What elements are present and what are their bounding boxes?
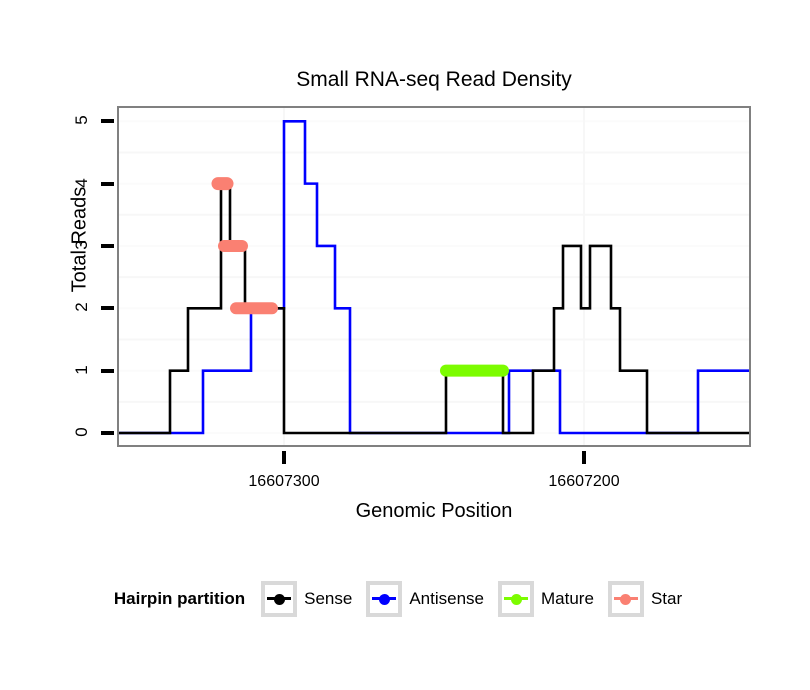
x-tick-label-16607200: 16607200 [514,473,654,491]
x-axis-title: Genomic Position [117,500,751,523]
legend-entry-antisense[interactable]: Antisense [366,581,498,617]
legend-key-dot-icon [620,594,631,605]
legend-key-mature-icon [498,581,534,617]
legend-key-dot-icon [511,594,522,605]
plot-panel [117,106,751,447]
x-tick-mark-16607300 [282,451,286,464]
y-tick-mark-3 [101,244,114,248]
x-tick-label-16607300: 16607300 [214,473,354,491]
legend-entry-sense[interactable]: Sense [261,581,366,617]
chart-figure: Small RNA-seq Read Density Total Reads 0… [0,0,810,690]
legend-entry-star[interactable]: Star [608,581,696,617]
y-tick-mark-0 [101,431,114,435]
legend-key-sense-icon [261,581,297,617]
y-tick-mark-2 [101,306,114,310]
y-tick-mark-5 [101,119,114,123]
y-tick-label-2: 2 [72,295,92,319]
legend-key-dot-icon [379,594,390,605]
legend-label-antisense: Antisense [409,589,484,609]
legend-label-mature: Mature [541,589,594,609]
legend-title: Hairpin partition [114,589,245,609]
chart-title: Small RNA-seq Read Density [117,68,751,92]
x-tick-mark-16607200 [582,451,586,464]
legend-label-star: Star [651,589,682,609]
legend-entry-mature[interactable]: Mature [498,581,608,617]
y-tick-label-3: 3 [72,233,92,257]
legend-entry-list: SenseAntisenseMatureStar [261,581,696,617]
legend-label-sense: Sense [304,589,352,609]
legend-key-dot-icon [274,594,285,605]
legend-key-antisense-icon [366,581,402,617]
y-tick-label-5: 5 [72,108,92,132]
plot-area [119,108,749,445]
legend-key-star-icon [608,581,644,617]
y-tick-label-0: 0 [72,420,92,444]
chart-legend: Hairpin partition SenseAntisenseMatureSt… [0,581,810,617]
y-tick-label-1: 1 [72,358,92,382]
y-tick-label-4: 4 [72,171,92,195]
y-tick-mark-4 [101,182,114,186]
y-tick-mark-1 [101,369,114,373]
gridlines [119,108,749,445]
